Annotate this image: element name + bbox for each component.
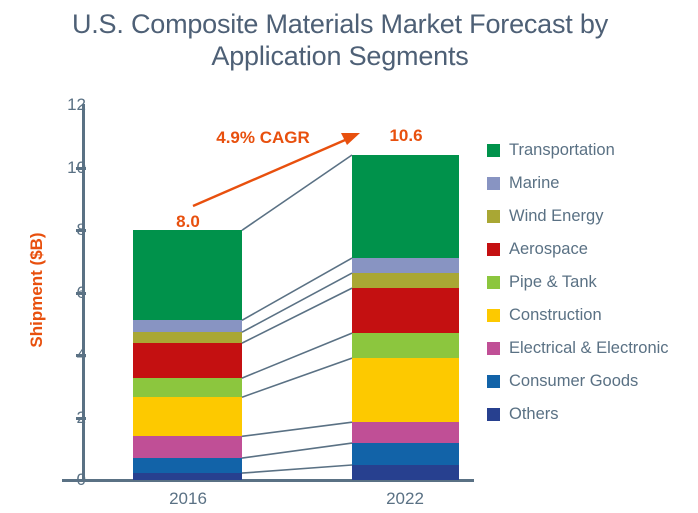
y-tick-mark-4	[76, 354, 86, 357]
y-tick-label-0: 0	[60, 471, 86, 488]
connector-line-electrical-electronic	[242, 422, 352, 436]
bar-segment-2016-electrical-electronic[interactable]	[133, 436, 242, 458]
bar-segment-2016-others[interactable]	[133, 473, 242, 480]
bar-segment-2016-marine[interactable]	[133, 320, 242, 332]
bar-segment-2016-transportation[interactable]	[133, 230, 242, 320]
legend-label: Marine	[509, 174, 559, 193]
legend-swatch-icon	[487, 276, 500, 289]
connector-line-pipe-tank	[242, 333, 352, 378]
legend-swatch-icon	[487, 210, 500, 223]
legend-swatch-icon	[487, 243, 500, 256]
connector-line-consumer-goods	[242, 443, 352, 458]
bar-segment-2022-consumer-goods[interactable]	[352, 443, 459, 465]
connector-line-construction	[242, 358, 352, 397]
legend-swatch-icon	[487, 375, 500, 388]
y-tick-label-12: 12	[60, 96, 86, 113]
legend-item-others[interactable]: Others	[487, 398, 697, 431]
bar-segment-2022-pipe-tank[interactable]	[352, 333, 459, 358]
legend-label: Wind Energy	[509, 207, 603, 226]
bar-segment-2016-construction[interactable]	[133, 397, 242, 436]
connector-line-wind-energy	[242, 273, 352, 332]
stacked-bar-2022[interactable]	[352, 105, 459, 480]
connector-line-marine	[242, 258, 352, 320]
cagr-annotation-label: 4.9% CAGR	[198, 128, 328, 148]
legend-item-pipe-tank[interactable]: Pipe & Tank	[487, 266, 697, 299]
bar-total-label-2022: 10.6	[366, 126, 446, 146]
legend-item-transportation[interactable]: Transportation	[487, 134, 697, 167]
bar-segment-2022-wind-energy[interactable]	[352, 273, 459, 288]
legend-swatch-icon	[487, 177, 500, 190]
y-tick-0: 0	[40, 471, 86, 488]
legend-item-marine[interactable]: Marine	[487, 167, 697, 200]
bar-segment-2022-others[interactable]	[352, 465, 459, 480]
legend-item-electrical-electronic[interactable]: Electrical & Electronic	[487, 332, 697, 365]
bar-segment-2016-aerospace[interactable]	[133, 343, 242, 378]
legend-item-construction[interactable]: Construction	[487, 299, 697, 332]
bar-segment-2022-electrical-electronic[interactable]	[352, 422, 459, 443]
legend-label: Consumer Goods	[509, 372, 638, 391]
connector-line-aerospace	[242, 288, 352, 343]
legend-label: Aerospace	[509, 240, 588, 259]
legend-item-consumer-goods[interactable]: Consumer Goods	[487, 365, 697, 398]
x-axis-tick-2016: 2016	[128, 489, 248, 509]
y-tick-12: 12	[40, 96, 86, 113]
legend-label: Pipe & Tank	[509, 273, 597, 292]
legend-item-wind-energy[interactable]: Wind Energy	[487, 200, 697, 233]
legend-label: Transportation	[509, 141, 615, 160]
connector-line-transportation	[242, 155, 352, 230]
legend-swatch-icon	[487, 342, 500, 355]
y-tick-mark-6	[76, 292, 86, 295]
legend-label: Electrical & Electronic	[509, 339, 669, 358]
legend-swatch-icon	[487, 408, 500, 421]
bar-total-label-2016: 8.0	[148, 212, 228, 232]
legend-swatch-icon	[487, 309, 500, 322]
legend-label: Construction	[509, 306, 602, 325]
y-tick-mark-2	[76, 417, 86, 420]
bar-segment-2016-pipe-tank[interactable]	[133, 378, 242, 397]
bar-segment-2016-consumer-goods[interactable]	[133, 458, 242, 473]
legend-item-aerospace[interactable]: Aerospace	[487, 233, 697, 266]
legend-label: Others	[509, 405, 559, 424]
chart-root: U.S. Composite Materials Market Forecast…	[0, 0, 698, 513]
bar-segment-2022-marine[interactable]	[352, 258, 459, 273]
bar-segment-2022-aerospace[interactable]	[352, 288, 459, 333]
bar-segment-2022-transportation[interactable]	[352, 155, 459, 258]
bar-segment-2022-construction[interactable]	[352, 358, 459, 422]
legend: TransportationMarineWind EnergyAerospace…	[487, 134, 697, 431]
legend-swatch-icon	[487, 144, 500, 157]
stacked-bar-2016[interactable]	[133, 105, 242, 480]
bar-segment-2016-wind-energy[interactable]	[133, 332, 242, 343]
connector-line-others	[242, 465, 352, 473]
y-tick-mark-8	[76, 229, 86, 232]
y-tick-mark-10	[76, 167, 86, 170]
x-axis-tick-2022: 2022	[345, 489, 465, 509]
